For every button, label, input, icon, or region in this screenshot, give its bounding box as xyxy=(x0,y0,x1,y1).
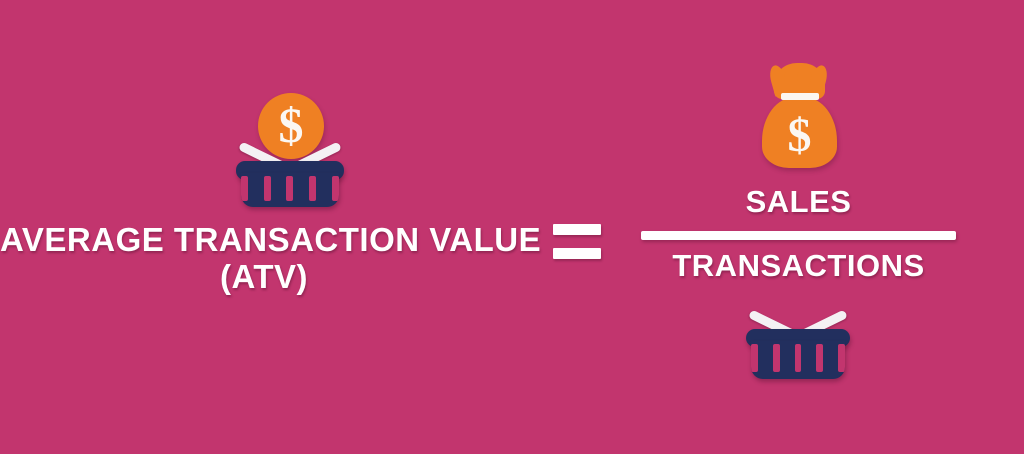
basket-slat-gap xyxy=(286,176,293,201)
basket-slat-gap xyxy=(264,176,271,201)
atv-label: AVERAGE TRANSACTION VALUE (ATV) xyxy=(0,222,528,296)
money-bag-tie xyxy=(781,93,819,100)
basket-slat-gap xyxy=(332,176,339,201)
sales-over-transactions-fraction: SALES TRANSACTIONS xyxy=(641,186,956,281)
basket-slat-gap xyxy=(838,344,845,372)
money-bag-icon: $ xyxy=(762,63,837,168)
money-bag-body: $ xyxy=(762,97,837,168)
shopping-basket-icon xyxy=(746,309,850,379)
fraction-bar xyxy=(641,231,956,240)
basket-slat-gap xyxy=(309,176,316,201)
basket-slat-gap xyxy=(773,344,780,372)
fraction-numerator: SALES xyxy=(641,186,956,217)
basket-slat-gap xyxy=(241,176,248,201)
dollar-sign-glyph: $ xyxy=(788,112,812,160)
equals-sign xyxy=(553,224,601,268)
fraction-denominator: TRANSACTIONS xyxy=(641,250,956,281)
basket-body xyxy=(241,173,338,207)
basket-slat-gap xyxy=(795,344,802,372)
atv-label-line-2: (ATV) xyxy=(0,259,528,296)
basket-slat-gap xyxy=(816,344,823,372)
shopping-basket-icon xyxy=(236,139,344,207)
basket-body xyxy=(751,341,845,379)
atv-label-line-1: AVERAGE TRANSACTION VALUE xyxy=(0,222,528,259)
infographic-canvas: $ AVERAGE TRANSACTION VALUE (ATV) xyxy=(0,0,1024,454)
equals-bar-top xyxy=(553,224,601,235)
basket-slat-gap xyxy=(751,344,758,372)
equals-bar-bottom xyxy=(553,248,601,259)
